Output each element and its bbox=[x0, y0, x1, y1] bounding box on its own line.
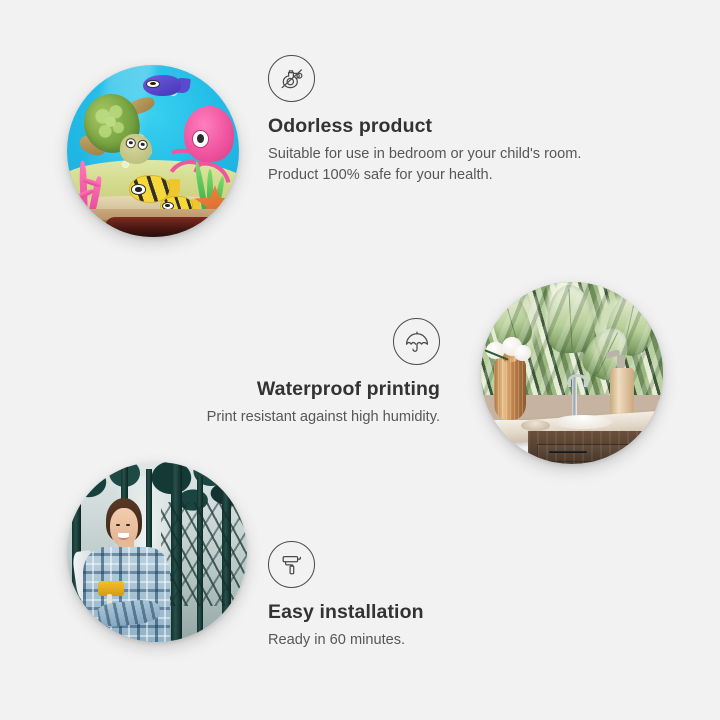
vanity-drawer bbox=[537, 444, 630, 462]
bathroom-scene bbox=[481, 282, 663, 464]
fish-eye bbox=[146, 80, 159, 88]
no-odor-perfume-bottle-icon bbox=[268, 55, 315, 102]
sink-faucet bbox=[568, 377, 581, 421]
turtle-eye bbox=[137, 139, 149, 150]
octopus-eye bbox=[192, 130, 209, 149]
bathroom-tropical-wallpaper-circle bbox=[481, 282, 663, 464]
feature-title: Waterproof printing bbox=[150, 377, 440, 401]
leaf-motif bbox=[602, 288, 659, 359]
cabinet-handle bbox=[646, 439, 651, 464]
drawer-handle bbox=[549, 451, 587, 453]
white-flowers bbox=[483, 333, 538, 369]
forest-scene bbox=[67, 462, 247, 642]
underwater-scene bbox=[67, 65, 239, 237]
feature-odorless: Odorless product Suitable for use in bed… bbox=[268, 55, 608, 186]
underwater-cartoon-mural-circle bbox=[67, 65, 239, 237]
woman-smile bbox=[118, 533, 129, 540]
room-floor-and-furniture bbox=[67, 209, 239, 237]
feature-waterproof: Waterproof printing Print resistant agai… bbox=[150, 318, 440, 428]
feature-title: Odorless product bbox=[268, 114, 608, 138]
forest-mural-woman-circle bbox=[67, 462, 247, 642]
feature-description: Ready in 60 minutes. bbox=[268, 630, 568, 651]
soap-dispenser bbox=[610, 368, 634, 415]
woman-with-paint-roller bbox=[81, 498, 182, 642]
pink-coral-illustration bbox=[67, 156, 139, 214]
blue-fish-illustration bbox=[143, 75, 181, 96]
feature-description: Suitable for use in bedroom or your chil… bbox=[268, 144, 608, 185]
feature-description: Print resistant against high humidity. bbox=[150, 407, 440, 428]
red-couch bbox=[113, 223, 145, 236]
feature-title: Easy installation bbox=[268, 600, 568, 624]
woman-eye bbox=[116, 524, 120, 526]
feature-easy-installation: Easy installation Ready in 60 minutes. bbox=[268, 541, 568, 651]
leaf-motif bbox=[545, 283, 596, 354]
woman-plaid-shirt bbox=[83, 547, 170, 642]
turtle-eye bbox=[125, 137, 137, 148]
umbrella-icon bbox=[393, 318, 440, 365]
wooden-vanity-cabinet bbox=[528, 431, 663, 464]
woman-eye bbox=[126, 524, 130, 526]
octopus-head bbox=[184, 106, 234, 162]
feature-highlights-board: Odorless product Suitable for use in bed… bbox=[0, 0, 720, 720]
paint-roller-icon bbox=[268, 541, 315, 588]
